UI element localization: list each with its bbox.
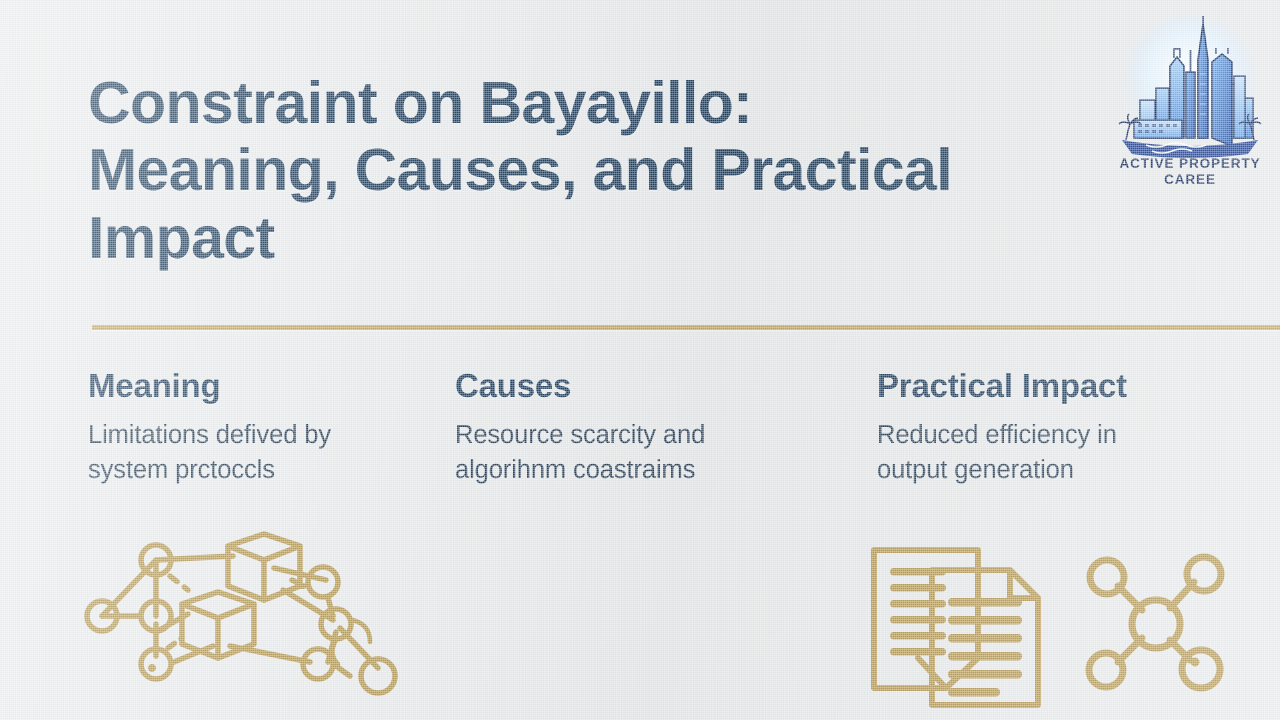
column-heading: Causes: [455, 368, 815, 404]
documents-icon: [860, 540, 1060, 715]
logo: ACTIVE PROPERTY CAREE: [1112, 14, 1268, 210]
logo-line-2: CAREE: [1112, 172, 1268, 188]
column-body: Limitations defived by system prctoccls: [88, 418, 388, 487]
column-heading: Practical Impact: [877, 368, 1237, 404]
gold-divider: [92, 325, 1280, 330]
logo-line-1: ACTIVE PROPERTY: [1112, 156, 1268, 172]
city-skyline-icon: [1112, 14, 1268, 162]
column-body: Reduced efficiency in output generation: [877, 418, 1177, 487]
column-heading: Meaning: [88, 368, 428, 404]
column-body: Resource scarcity and algorihnm coastrai…: [455, 418, 755, 487]
column-causes: Causes Resource scarcity and algorihnm c…: [455, 368, 815, 488]
hub-spoke-icon: [1082, 552, 1230, 692]
column-meaning: Meaning Limitations defived by system pr…: [88, 368, 428, 488]
column-practical-impact: Practical Impact Reduced efficiency in o…: [877, 368, 1237, 488]
page-title: Constraint on Bayayillo: Meaning, Causes…: [88, 70, 1068, 272]
network-nodes-icon: [78, 528, 408, 708]
logo-text: ACTIVE PROPERTY CAREE: [1112, 156, 1268, 188]
presentation-slide: Constraint on Bayayillo: Meaning, Causes…: [0, 0, 1280, 720]
